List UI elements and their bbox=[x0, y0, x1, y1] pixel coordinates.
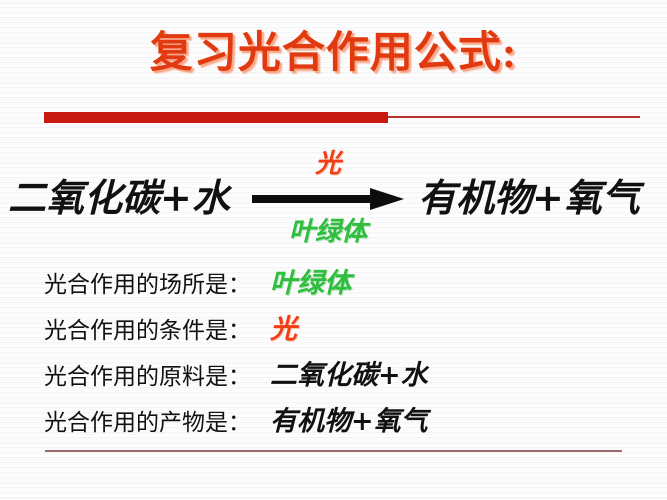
arrow-shaft bbox=[252, 195, 374, 203]
photosynthesis-equation: 二氧化碳+水 光 叶绿体 有机物+氧气 bbox=[0, 152, 667, 256]
qa-label-site: 光合作用的场所是： bbox=[44, 268, 251, 302]
equation-products: 有机物+氧气 bbox=[418, 176, 640, 220]
title-divider-thin-line bbox=[388, 116, 640, 118]
list-item: 光合作用的场所是： 叶绿体 bbox=[0, 268, 667, 314]
qa-answer-product: 有机物+氧气 bbox=[270, 404, 428, 440]
list-item: 光合作用的原料是： 二氧化碳+水 bbox=[0, 360, 667, 406]
qa-list: 光合作用的场所是： 叶绿体 光合作用的条件是： 光 光合作用的原料是： 二氧化碳… bbox=[0, 268, 667, 452]
title-divider bbox=[44, 112, 640, 123]
title-divider-thick-bar bbox=[44, 112, 388, 123]
list-item: 光合作用的产物是： 有机物+氧气 bbox=[0, 406, 667, 452]
page-title: 复习光合作用公式: bbox=[0, 28, 667, 80]
qa-answer-site: 叶绿体 bbox=[270, 266, 351, 302]
equation-site-chloroplast-label: 叶绿体 bbox=[236, 216, 420, 248]
arrow-head bbox=[370, 188, 404, 210]
equation-reactants: 二氧化碳+水 bbox=[8, 176, 230, 220]
qa-answer-raw-material: 二氧化碳+水 bbox=[270, 358, 428, 394]
list-item: 光合作用的条件是： 光 bbox=[0, 314, 667, 360]
slide-canvas: 复习光合作用公式: 二氧化碳+水 光 叶绿体 有机物+氧气 光合作用的场所是： … bbox=[0, 0, 667, 500]
qa-label-raw-material: 光合作用的原料是： bbox=[44, 360, 251, 394]
right-arrow-icon bbox=[252, 188, 404, 210]
qa-answer-condition: 光 bbox=[270, 312, 297, 348]
qa-label-condition: 光合作用的条件是： bbox=[44, 314, 251, 348]
equation-condition-light-label: 光 bbox=[252, 148, 404, 180]
qa-label-product: 光合作用的产物是： bbox=[44, 406, 251, 440]
